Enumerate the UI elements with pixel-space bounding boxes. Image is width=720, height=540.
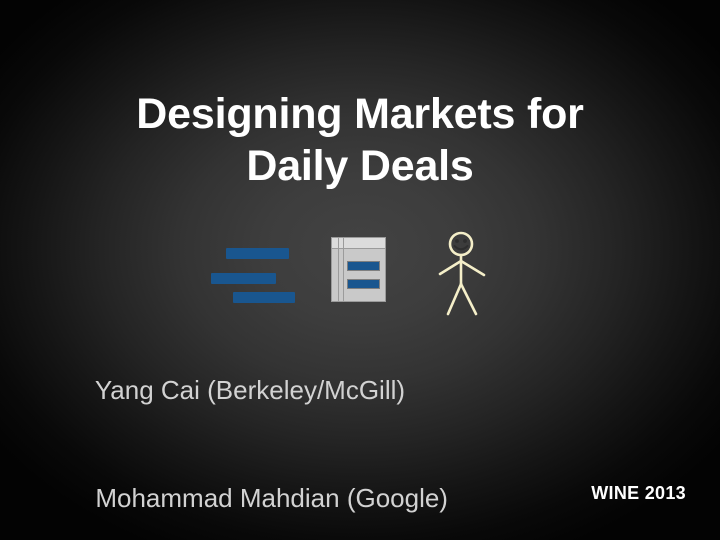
document-header-bar <box>332 238 385 249</box>
author-affiliation-text: (Berkeley/McGill) <box>207 375 405 405</box>
figure-eye-right <box>463 239 467 243</box>
staggered-bar-3 <box>233 292 295 303</box>
author-name: Yang Cai <box>95 375 200 405</box>
slide-title: Designing Markets for Daily Deals <box>0 88 720 192</box>
stick-figure-icon <box>437 230 493 316</box>
figure-head <box>450 233 472 255</box>
figure-leg-right <box>461 284 476 314</box>
staggered-bar-2 <box>211 273 276 284</box>
author-list: Yang Cai (Berkeley/McGill) Mohammad Mahd… <box>52 336 672 540</box>
staggered-bars-icon <box>208 230 304 310</box>
author-line: Yang Cai (Berkeley/McGill) <box>52 336 672 444</box>
graphics-row <box>0 230 720 316</box>
presentation-slide: Designing Markets for Daily Deals <box>0 0 720 540</box>
figure-leg-left <box>448 284 461 314</box>
figure-arm-right <box>461 261 484 275</box>
staggered-bar-1 <box>226 248 289 259</box>
document-icon <box>331 237 386 302</box>
document-spine-line-1 <box>338 238 339 301</box>
figure-eye-left <box>455 239 459 243</box>
figure-arm-left <box>440 261 461 274</box>
figure-face <box>455 239 467 243</box>
document-content-bar-2 <box>347 279 380 289</box>
figure-smile <box>455 246 468 249</box>
document-content-bar-1 <box>347 261 380 271</box>
document-spine-line-2 <box>343 238 344 301</box>
venue-label: WINE 2013 <box>0 483 686 504</box>
